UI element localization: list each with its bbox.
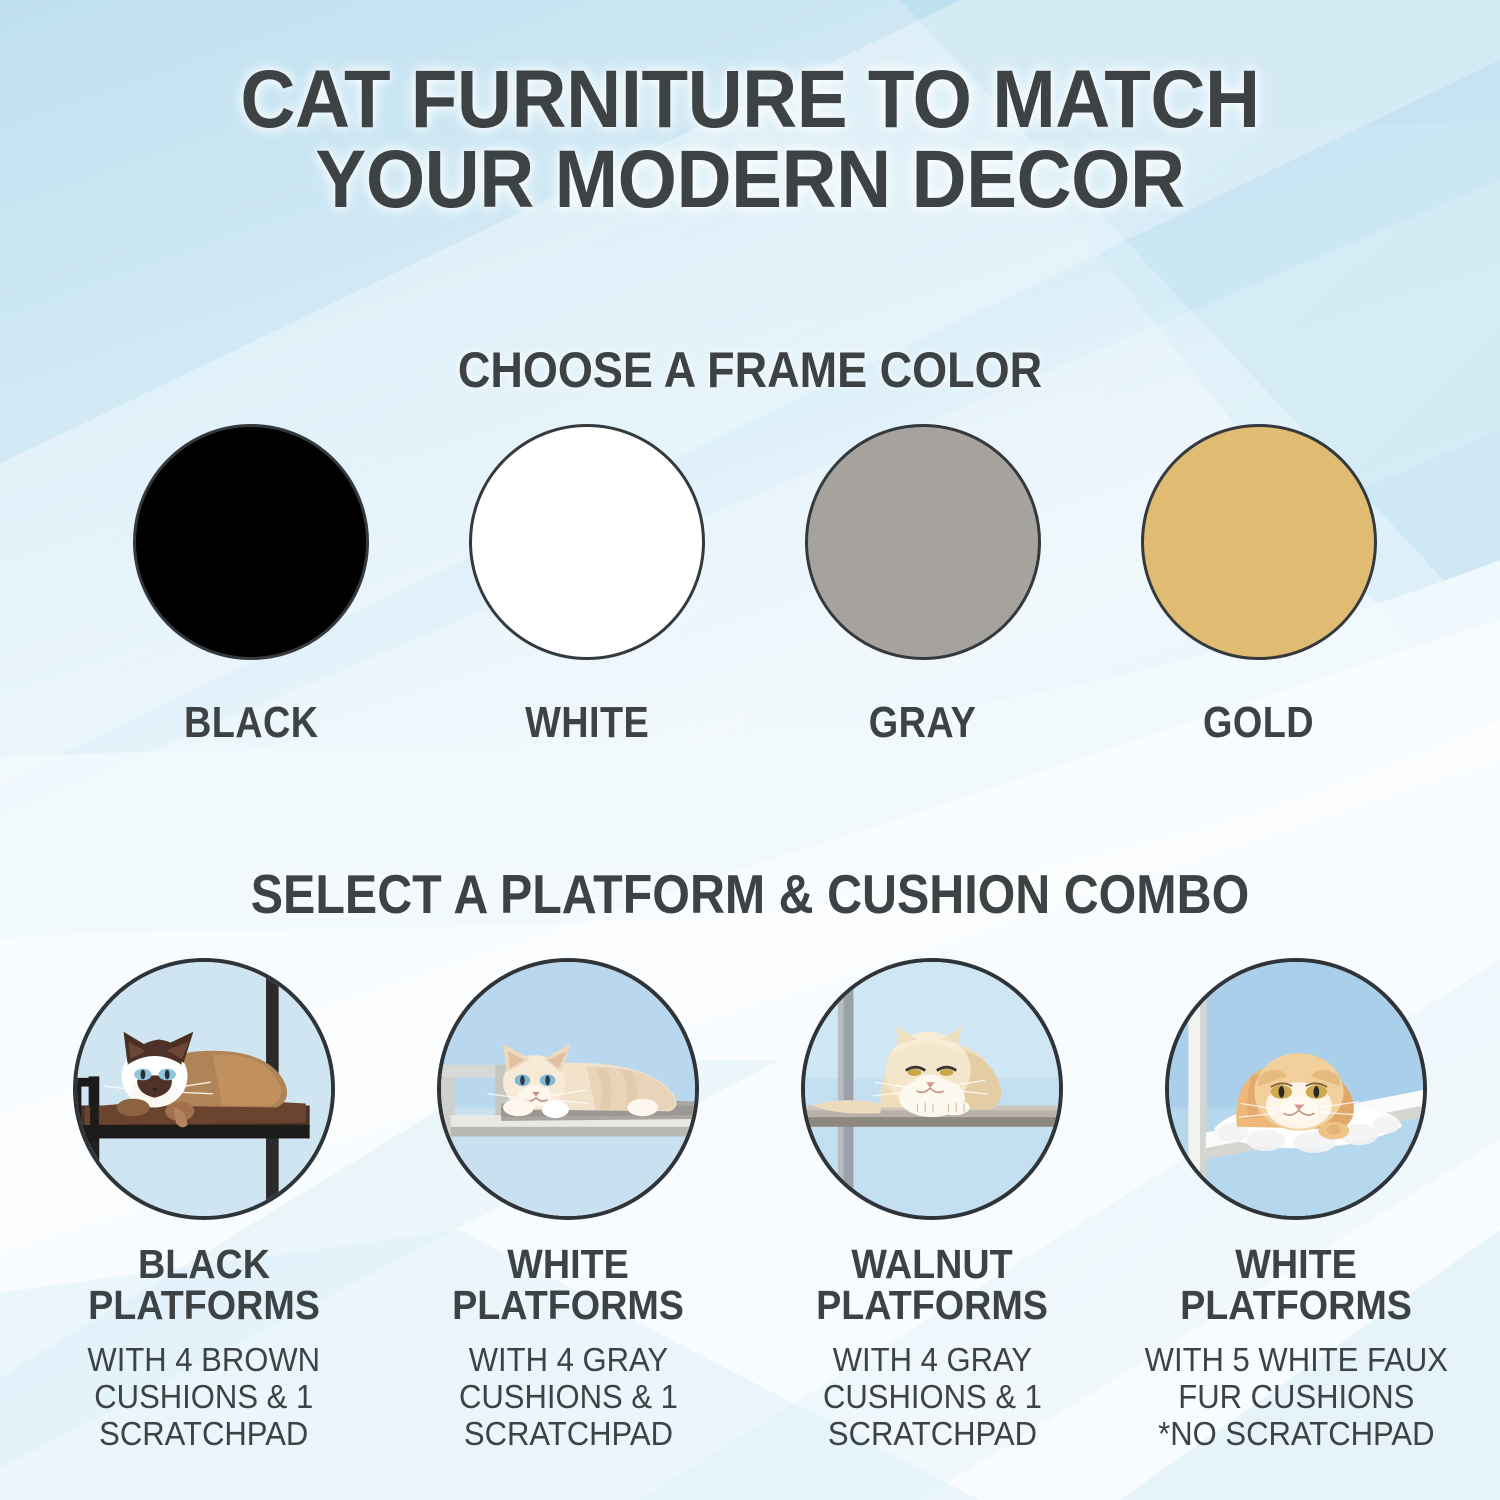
combo-section-heading: SELECT A PLATFORM & CUSHION COMBO (90, 862, 1410, 926)
frame-color-option-black[interactable]: BLACK (110, 424, 392, 748)
combo-subtitle-white-platforms-fur: WITH 5 WHITE FAUX FUR CUSHIONS *NO SCRAT… (1144, 1342, 1447, 1453)
color-swatch-white[interactable] (469, 424, 705, 660)
frame-color-option-white[interactable]: WHITE (446, 424, 728, 748)
frame-color-section-heading: CHOOSE A FRAME COLOR (75, 341, 1425, 399)
color-swatch-label-gray: GRAY (869, 698, 977, 748)
combo-photo-white-platforms-gray[interactable] (437, 958, 699, 1220)
combo-title-white-platforms-gray: WHITE PLATFORMS (452, 1244, 684, 1326)
combo-title-black-platforms: BLACK PLATFORMS (88, 1244, 320, 1326)
page-title: CAT FURNITURE TO MATCH YOUR MODERN DECOR (53, 60, 1448, 221)
frame-color-option-gray[interactable]: GRAY (782, 424, 1064, 748)
combo-title-white-platforms-fur: WHITE PLATFORMS (1180, 1244, 1412, 1326)
combo-subtitle-walnut-platforms: WITH 4 GRAY CUSHIONS & 1 SCRATCHPAD (823, 1342, 1042, 1453)
combo-title-walnut-platforms: WALNUT PLATFORMS (816, 1244, 1048, 1326)
combo-subtitle-white-platforms-gray: WITH 4 GRAY CUSHIONS & 1 SCRATCHPAD (459, 1342, 678, 1453)
color-swatch-gold[interactable] (1141, 424, 1377, 660)
color-swatch-label-gold: GOLD (1203, 698, 1314, 748)
combo-photo-white-platforms-fur[interactable] (1165, 958, 1427, 1220)
combo-photo-walnut-platforms[interactable] (801, 958, 1063, 1220)
color-swatch-label-black: BLACK (184, 698, 319, 748)
color-swatch-label-white: WHITE (525, 698, 649, 748)
combo-subtitle-black-platforms: WITH 4 BROWN CUSHIONS & 1 SCRATCHPAD (88, 1342, 321, 1453)
combo-option-black-platforms[interactable]: BLACK PLATFORMS WITH 4 BROWN CUSHIONS & … (22, 958, 386, 1453)
frame-color-swatch-row: BLACK WHITE GRAY GOLD (110, 424, 1400, 748)
color-swatch-black[interactable] (133, 424, 369, 660)
combo-option-white-platforms-gray[interactable]: WHITE PLATFORMS WITH 4 GRAY CUSHIONS & 1… (386, 958, 750, 1453)
combo-photo-black-platforms[interactable] (73, 958, 335, 1220)
combo-option-white-platforms-fur[interactable]: WHITE PLATFORMS WITH 5 WHITE FAUX FUR CU… (1114, 958, 1478, 1453)
frame-color-option-gold[interactable]: GOLD (1118, 424, 1400, 748)
combo-option-row: BLACK PLATFORMS WITH 4 BROWN CUSHIONS & … (22, 958, 1478, 1453)
color-swatch-gray[interactable] (805, 424, 1041, 660)
combo-option-walnut-platforms[interactable]: WALNUT PLATFORMS WITH 4 GRAY CUSHIONS & … (750, 958, 1114, 1453)
